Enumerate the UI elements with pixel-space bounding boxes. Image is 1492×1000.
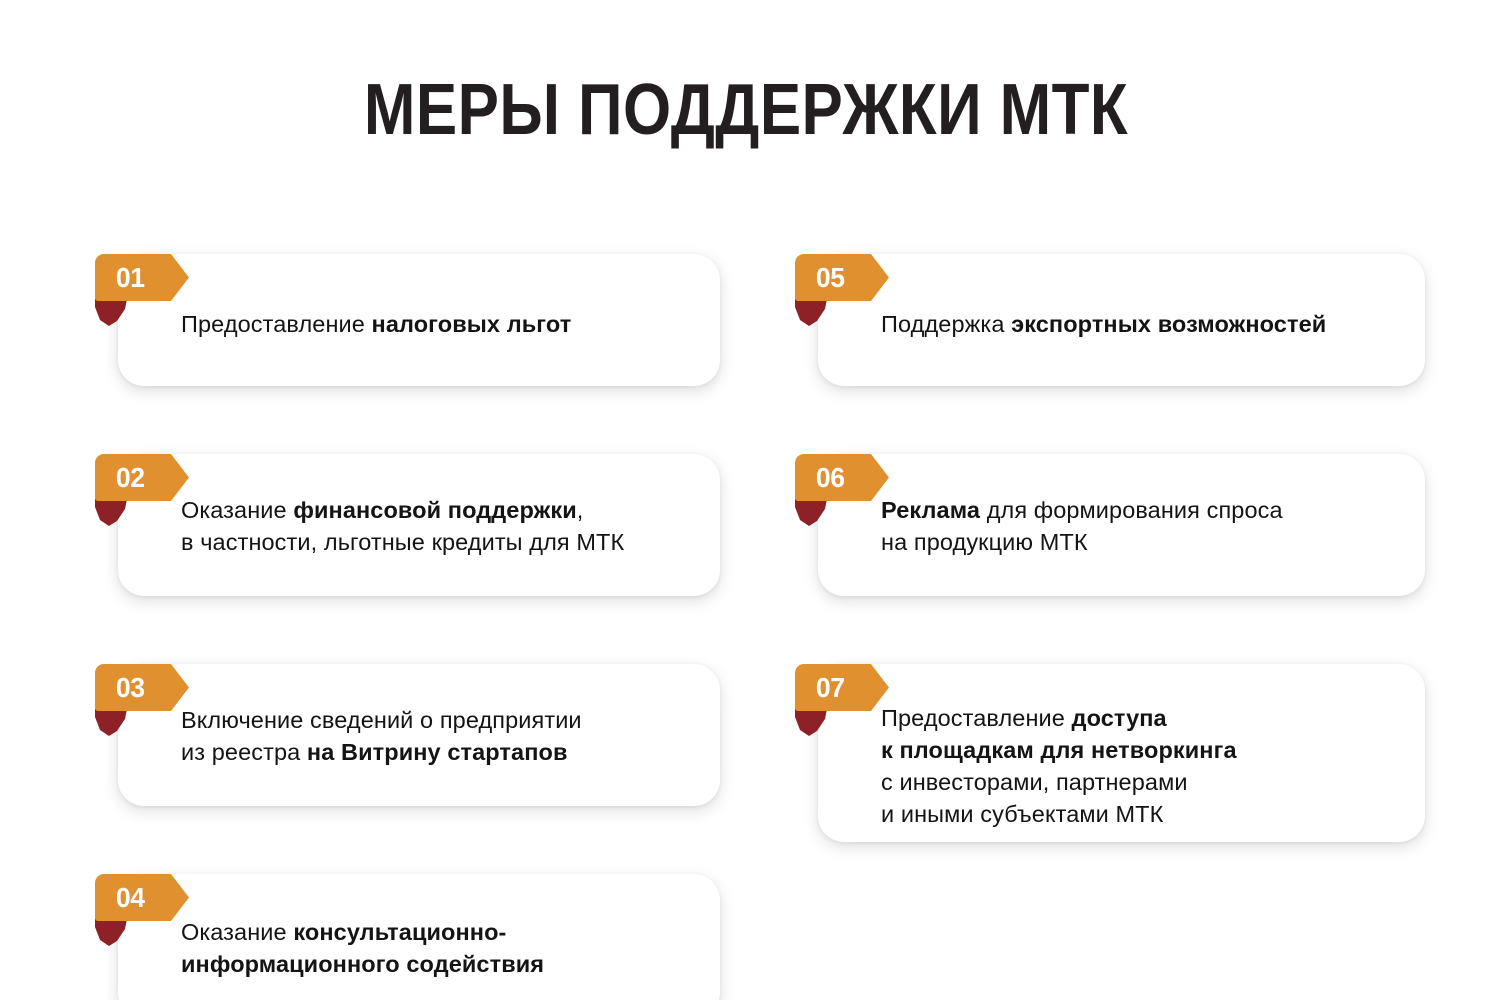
support-measure-item: 07 Предоставление доступак площадкам для… bbox=[795, 664, 1425, 842]
support-measure-item: 04 Оказание консультационно-информационн… bbox=[95, 874, 720, 1000]
measure-card: Включение сведений о предприятиииз реест… bbox=[118, 664, 720, 806]
measure-text: Предоставление доступак площадкам для не… bbox=[818, 664, 1425, 830]
column-left: 01 Предоставление налоговых льгот 02 Ока… bbox=[95, 222, 720, 1000]
measure-card: Реклама для формирования спросана продук… bbox=[818, 454, 1425, 596]
spacer bbox=[795, 596, 1425, 632]
badge-01: 01 bbox=[95, 254, 191, 314]
measure-card: Предоставление доступак площадкам для не… bbox=[818, 664, 1425, 842]
support-measure-item: 01 Предоставление налоговых льгот bbox=[95, 254, 720, 386]
measure-card: Оказание финансовой поддержки,в частност… bbox=[118, 454, 720, 596]
support-measure-item: 05 Поддержка экспортных возможностей bbox=[795, 254, 1425, 386]
measure-text: Реклама для формирования спросана продук… bbox=[818, 454, 1425, 558]
page-title: МЕРЫ ПОДДЕРЖКИ МТК bbox=[104, 72, 1387, 148]
badge-ribbon-icon: 07 bbox=[795, 664, 889, 711]
measure-text: Включение сведений о предприятиииз реест… bbox=[118, 664, 720, 768]
badge-04: 04 bbox=[95, 874, 191, 934]
measure-text: Поддержка экспортных возможностей bbox=[818, 254, 1425, 340]
spacer bbox=[95, 806, 720, 842]
badge-number: 06 bbox=[795, 464, 845, 492]
spacer bbox=[795, 386, 1425, 422]
measure-text: Оказание консультационно-информационного… bbox=[118, 874, 720, 980]
measure-card: Поддержка экспортных возможностей bbox=[818, 254, 1425, 386]
badge-ribbon-icon: 05 bbox=[795, 254, 889, 301]
badge-ribbon-icon: 03 bbox=[95, 664, 189, 711]
support-measure-item: 02 Оказание финансовой поддержки,в частн… bbox=[95, 454, 720, 596]
column-right: 05 Поддержка экспортных возможностей 06 … bbox=[795, 222, 1425, 842]
spacer bbox=[95, 596, 720, 632]
infographic-page: МЕРЫ ПОДДЕРЖКИ МТК 01 Предоставление нал… bbox=[0, 0, 1492, 1000]
measure-card: Предоставление налоговых льгот bbox=[118, 254, 720, 386]
badge-ribbon-icon: 01 bbox=[95, 254, 189, 301]
badge-02: 02 bbox=[95, 454, 191, 514]
badge-05: 05 bbox=[795, 254, 891, 314]
badge-ribbon-icon: 06 bbox=[795, 454, 889, 501]
badge-ribbon-icon: 02 bbox=[95, 454, 189, 501]
badge-number: 04 bbox=[95, 884, 145, 912]
measure-card: Оказание консультационно-информационного… bbox=[118, 874, 720, 1000]
badge-number: 05 bbox=[795, 264, 845, 292]
badge-06: 06 bbox=[795, 454, 891, 514]
measure-text: Предоставление налоговых льгот bbox=[118, 254, 720, 340]
badge-ribbon-icon: 04 bbox=[95, 874, 189, 921]
badge-03: 03 bbox=[95, 664, 191, 724]
badge-number: 02 bbox=[95, 464, 145, 492]
badge-number: 07 bbox=[795, 674, 845, 702]
measure-text: Оказание финансовой поддержки,в частност… bbox=[118, 454, 720, 558]
badge-number: 01 bbox=[95, 264, 145, 292]
spacer bbox=[95, 386, 720, 422]
badge-number: 03 bbox=[95, 674, 145, 702]
badge-07: 07 bbox=[795, 664, 891, 724]
support-measure-item: 03 Включение сведений о предприятиииз ре… bbox=[95, 664, 720, 806]
support-measure-item: 06 Реклама для формирования спросана про… bbox=[795, 454, 1425, 596]
